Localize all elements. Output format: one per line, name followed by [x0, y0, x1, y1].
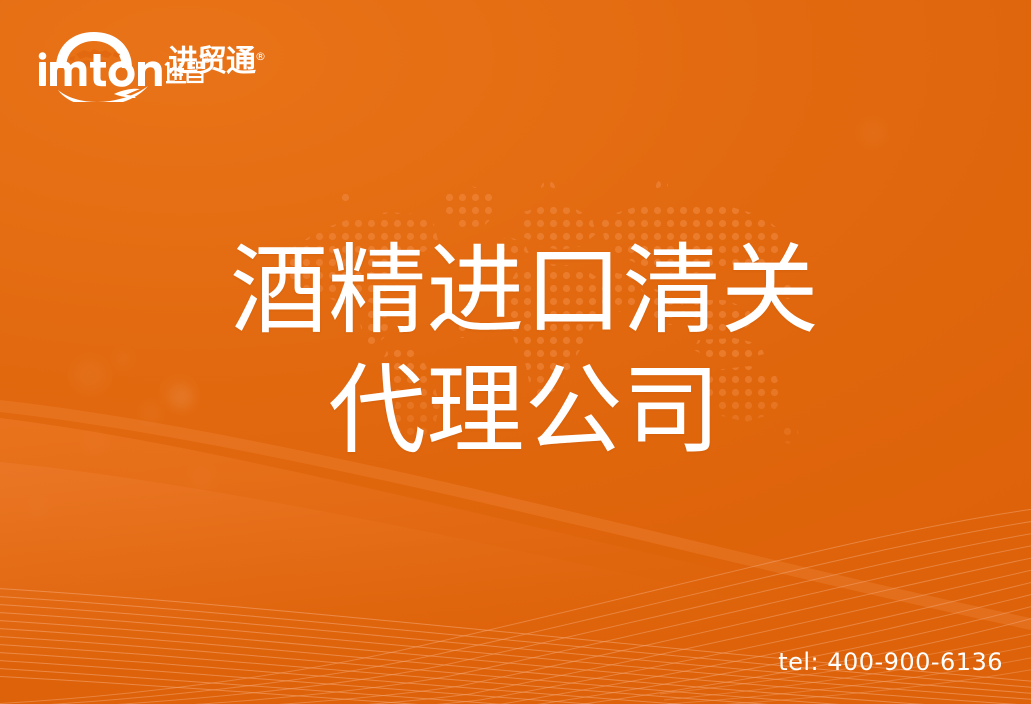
bokeh-circle [860, 120, 886, 146]
registered-mark: ® [255, 50, 265, 63]
swoosh-bird-icon [58, 86, 148, 102]
imton-wordmark [39, 52, 162, 87]
logo-chinese-text: 进贸通 [168, 44, 255, 79]
telephone-label: tel: 400-900-6136 [778, 648, 1003, 676]
banner-canvas: R 进贸通® 酒精进口清关 代理公司 tel: 400-900-6136 [0, 0, 1031, 704]
headline-line-1: 酒精进口清关 [0, 232, 1031, 352]
page-title: 酒精进口清关 代理公司 [0, 232, 1031, 471]
logo-chinese-label: 进贸通® [168, 47, 265, 77]
headline-line-2: 代理公司 [0, 352, 1031, 472]
